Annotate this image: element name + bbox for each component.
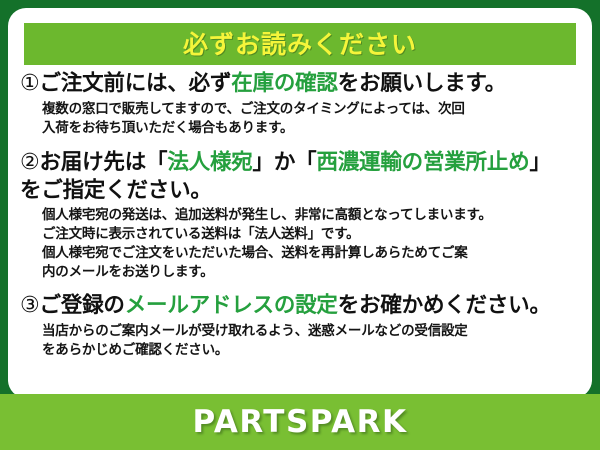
notice-2-subline-2: ご注文時に表示されている送料は「法人送料」です。 xyxy=(42,225,582,244)
notice-2-heading-line2: をご指定ください。 xyxy=(20,177,582,204)
notice-2-heading-part-3: 」か「 xyxy=(253,150,317,175)
notice-1-heading-highlight: 在庫の確認 xyxy=(231,71,338,96)
notice-1-subtext: 複数の窓口で販売してますので、ご注文のタイミングによっては、次回 入荷をお待ち頂… xyxy=(20,100,582,138)
notice-3-heading-part-1: ご登録の xyxy=(40,293,125,318)
header-bar: 必ずお読みください xyxy=(24,23,576,65)
notice-banner: 必ずお読みください ①ご注文前には、必ず在庫の確認をお願いします。 複数の窓口で… xyxy=(0,0,600,450)
notice-2-heading-highlight-2: 西濃運輸の営業所止め xyxy=(316,150,529,175)
notice-1-number: ① xyxy=(20,71,40,96)
brand-logo-text: PARTSPARK xyxy=(192,407,407,438)
notice-2-heading-part-1: お届け先は「 xyxy=(40,150,168,175)
spacer-2 xyxy=(8,282,592,292)
white-panel: 必ずお読みください ①ご注文前には、必ず在庫の確認をお願いします。 複数の窓口で… xyxy=(8,8,592,398)
notice-2-subline-4: 内のメールをお送りします。 xyxy=(42,263,582,282)
header-title: 必ずお読みください xyxy=(183,32,417,57)
notice-3-subtext: 当店からのご案内メールが受け取れるよう、迷惑メールなどの受信設定 をあらかじめご… xyxy=(20,322,582,360)
notice-3-number: ③ xyxy=(20,293,40,318)
notice-1-heading-part-3: をお願いします。 xyxy=(338,71,506,96)
notice-2-heading-part-5: 」 xyxy=(529,150,550,175)
notice-2-heading-highlight-1: 法人様宛 xyxy=(167,150,252,175)
notice-3-heading-highlight: メールアドレスの設定 xyxy=(125,293,338,318)
spacer-1 xyxy=(8,138,592,149)
notice-2-subline-1: 個人様宅宛の発送は、追加送料が発生し、非常に高額となってしまいます。 xyxy=(42,206,582,225)
notice-3-subline-2: をあらかじめご確認ください。 xyxy=(42,341,582,360)
notice-3-subline-1: 当店からのご案内メールが受け取れるよう、迷惑メールなどの受信設定 xyxy=(42,322,582,341)
notice-item-3: ③ご登録のメールアドレスの設定をお確かめください。 当店からのご案内メールが受け… xyxy=(8,292,592,360)
notice-list: ①ご注文前には、必ず在庫の確認をお願いします。 複数の窓口で販売してますので、ご… xyxy=(8,70,592,360)
notice-2-number: ② xyxy=(20,150,40,175)
notice-2-heading-line1: ②お届け先は「法人様宛」か「西濃運輸の営業所止め」 xyxy=(20,149,582,177)
notice-1-subline-2: 入荷をお待ち頂いただく場合もあります。 xyxy=(42,119,582,138)
notice-2-subline-3: 個人様宅宛でご注文をいただいた場合、送料を再計算しあらためてご案 xyxy=(42,244,582,263)
notice-1-heading-part-1: ご注文前には、必ず xyxy=(40,71,232,96)
notice-3-heading: ③ご登録のメールアドレスの設定をお確かめください。 xyxy=(20,292,582,320)
notice-item-1: ①ご注文前には、必ず在庫の確認をお願いします。 複数の窓口で販売してますので、ご… xyxy=(8,70,592,138)
notice-1-heading: ①ご注文前には、必ず在庫の確認をお願いします。 xyxy=(20,70,582,98)
notice-item-2: ②お届け先は「法人様宛」か「西濃運輸の営業所止め」 をご指定ください。 個人様宅… xyxy=(8,149,592,282)
notice-1-subline-1: 複数の窓口で販売してますので、ご注文のタイミングによっては、次回 xyxy=(42,100,582,119)
footer-bar: PARTSPARK xyxy=(0,394,600,450)
notice-2-subtext: 個人様宅宛の発送は、追加送料が発生し、非常に高額となってしまいます。 ご注文時に… xyxy=(20,206,582,283)
notice-3-heading-part-3: をお確かめください。 xyxy=(338,293,551,318)
